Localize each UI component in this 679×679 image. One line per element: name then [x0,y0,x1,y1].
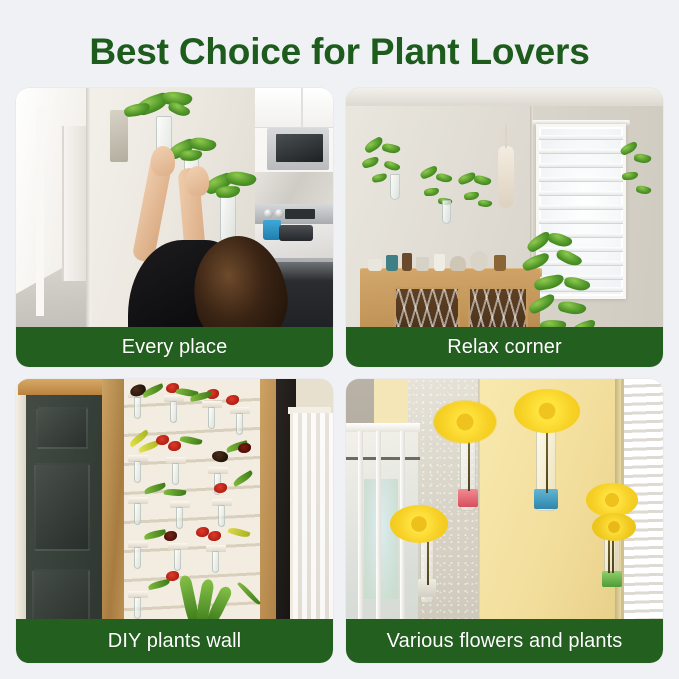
glass-tube-vase [134,461,141,483]
yellow-daisy [390,505,448,543]
flower-stem [546,423,548,493]
glass-tube-vase [176,507,183,529]
window-mullion [358,431,363,631]
page-title: Best Choice for Plant Lovers [0,30,679,74]
glass-tube-vase [134,597,141,619]
decor-frame [470,251,488,271]
gallery-card-every-place[interactable]: Every place [16,88,333,367]
wall-vase-holder [110,110,128,162]
ceiling [346,88,663,106]
hallway-door-frame [36,106,44,316]
upper-cabinets [255,88,333,128]
glass-tube-vase [134,547,141,569]
decor-object [368,259,382,271]
gallery-card-relax-corner[interactable]: Relax corner [346,88,663,367]
glass-tube-vase [218,505,225,527]
decor-object [386,255,398,271]
glass-tube-vase [134,503,141,525]
kitchen-backsplash [255,172,333,206]
gallery-card-various-flowers[interactable]: Various flowers and plants [346,379,663,663]
blind-slat [539,149,623,154]
counter-decor [366,243,536,271]
wall-vase [390,174,400,200]
glass-tube-vase [208,407,215,429]
glass-tube-vase [212,551,219,573]
caption-label: Relax corner [447,336,562,359]
wall-plant [618,144,658,214]
microwave-icon [267,128,329,170]
vase-band [458,489,478,507]
stove-knob [275,209,284,218]
macrame-hanging [498,146,514,208]
caption-bar-every-place: Every place [16,327,333,367]
stove-display [285,209,315,219]
yellow-daisy [434,401,496,443]
glass-tube-vase [174,549,181,571]
blind-slat [539,191,623,196]
caption-bar-diy-plants-wall: DIY plants wall [16,619,333,663]
person-hand [151,146,175,176]
decor-object [450,256,466,271]
blind-slat [539,163,623,168]
person-hand [186,166,209,196]
photo-every-place [16,88,333,367]
hallway-door [62,126,88,281]
door-panel [34,463,90,551]
blind-slat [539,219,623,224]
wall-corner-edge [86,88,91,367]
promo-infographic: Best Choice for Plant Lovers [0,0,679,679]
glass-tube-vase [170,401,177,423]
glass-tube-vase [236,413,243,435]
gallery-card-diy-plants-wall[interactable]: DIY plants wall [16,379,333,663]
blind-slat [539,135,623,140]
caption-bar-relax-corner: Relax corner [346,327,663,367]
feature-gallery-grid: Every place [16,88,663,663]
caption-bar-various-flowers: Various flowers and plants [346,619,663,663]
photo-relax-corner [346,88,663,367]
window-daylight [364,479,398,599]
decor-object [494,255,506,271]
blind-slat [539,177,623,182]
decor-object [434,254,445,271]
caption-label: DIY plants wall [108,630,241,653]
wall-plant [454,174,496,220]
caption-label: Every place [122,336,228,359]
glass-tube-vase [172,463,179,485]
glass-tube-vase [134,397,141,419]
cooking-pot [279,225,313,241]
vase-band [602,571,622,587]
decor-object [402,253,412,271]
yellow-daisy [514,389,580,433]
door-panel [36,407,88,449]
yellow-daisy [586,483,638,517]
stove-knob [264,209,273,218]
wall-vase [442,200,451,224]
cabinet-divider [301,88,303,128]
window-mullion [376,431,381,631]
wall-plant [418,168,458,214]
decor-object [416,257,429,271]
blind-slat [539,205,623,210]
caption-label: Various flowers and plants [387,630,623,653]
yellow-daisy [592,513,636,541]
